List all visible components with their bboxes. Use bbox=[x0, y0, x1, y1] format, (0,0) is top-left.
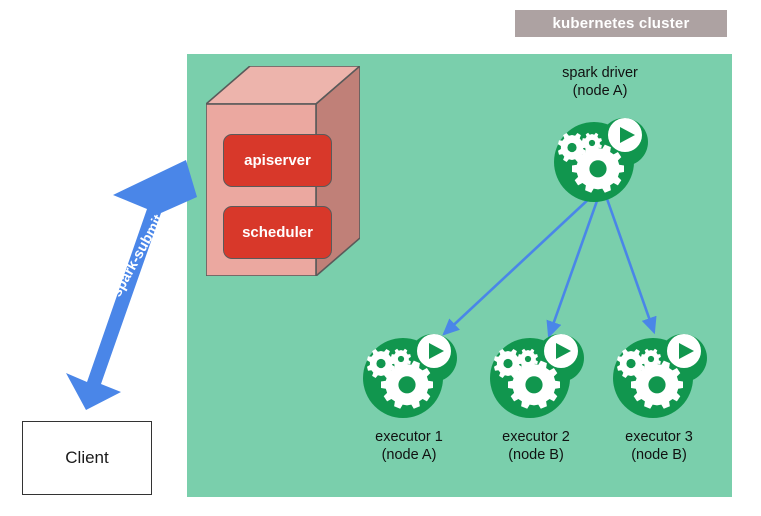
scheduler-box[interactable]: scheduler bbox=[223, 206, 332, 259]
executor-3-node-id: (node B) bbox=[583, 446, 735, 464]
diagram-canvas: kubernetes cluster apiserver scheduler s… bbox=[0, 0, 761, 516]
executor-3-caption: executor 3 (node B) bbox=[583, 428, 735, 464]
spark-driver-node-id: (node A) bbox=[524, 82, 676, 100]
spark-driver-caption: spark driver (node A) bbox=[524, 64, 676, 100]
spark-driver-name: spark driver bbox=[524, 64, 676, 82]
client-box[interactable]: Client bbox=[22, 421, 152, 495]
apiserver-box[interactable]: apiserver bbox=[223, 134, 332, 187]
client-label: Client bbox=[65, 448, 108, 468]
executor-3-name: executor 3 bbox=[583, 428, 735, 446]
kubernetes-cluster-label: kubernetes cluster bbox=[515, 10, 727, 37]
spark-submit-arrow bbox=[55, 160, 215, 410]
spark-submit-arrow-shape bbox=[66, 160, 197, 410]
